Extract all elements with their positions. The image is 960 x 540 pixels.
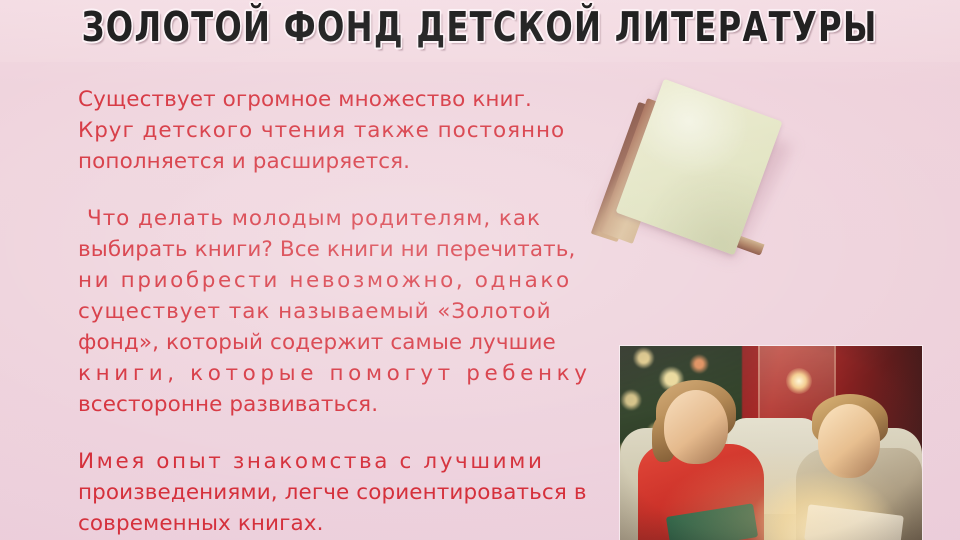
slide-body-text: Существует огромное множество книг. Круг…: [78, 84, 626, 539]
paragraph-1-line-1: Существует огромное множество книг.: [78, 84, 626, 115]
paragraph-1: Существует огромное множество книг. Круг…: [78, 84, 626, 177]
photo-warm-overlay: [620, 346, 922, 540]
paragraph-3: Имея опыт знакомства с лучшими произведе…: [78, 446, 626, 539]
paragraph-2-line-3: ни приобрести невозможно, однако: [78, 265, 626, 296]
paragraph-2-line-6: книги, которые помогут ребенку: [78, 358, 626, 389]
paragraph-3-line-2: произведениями, легче сориентироваться в: [78, 477, 626, 508]
children-reading-book-photo: [620, 346, 922, 540]
paragraph-2-line-2: выбирать книги? Все книги ни перечитать,: [78, 234, 626, 265]
paragraph-3-line-1: Имея опыт знакомства с лучшими: [78, 446, 626, 477]
paragraph-3-line-3: современных книгах.: [78, 508, 626, 539]
paragraph-2: Что делать молодым родителям, как выбира…: [78, 203, 626, 420]
paragraph-2-line-1: Что делать молодым родителям, как: [78, 203, 626, 234]
slide-title: ЗОЛОТОЙ ФОНД ДЕТСКОЙ ЛИТЕРАТУРЫ: [82, 2, 878, 54]
closed-notebook-illustration: [612, 96, 780, 254]
paragraph-2-line-7: всесторонне развиваться.: [78, 389, 626, 420]
slide-canvas: ЗОЛОТОЙ ФОНД ДЕТСКОЙ ЛИТЕРАТУРЫ Существу…: [0, 0, 960, 540]
paragraph-1-line-2: Круг детского чтения также постоянно: [78, 115, 626, 146]
paragraph-2-line-5: фонд», который содержит самые лучшие: [78, 327, 626, 358]
paragraph-1-line-3: пополняется и расширяется.: [78, 146, 626, 177]
slide-title-container: ЗОЛОТОЙ ФОНД ДЕТСКОЙ ЛИТЕРАТУРЫ: [0, 2, 960, 46]
paragraph-2-line-4: существует так называемый «Золотой: [78, 296, 626, 327]
